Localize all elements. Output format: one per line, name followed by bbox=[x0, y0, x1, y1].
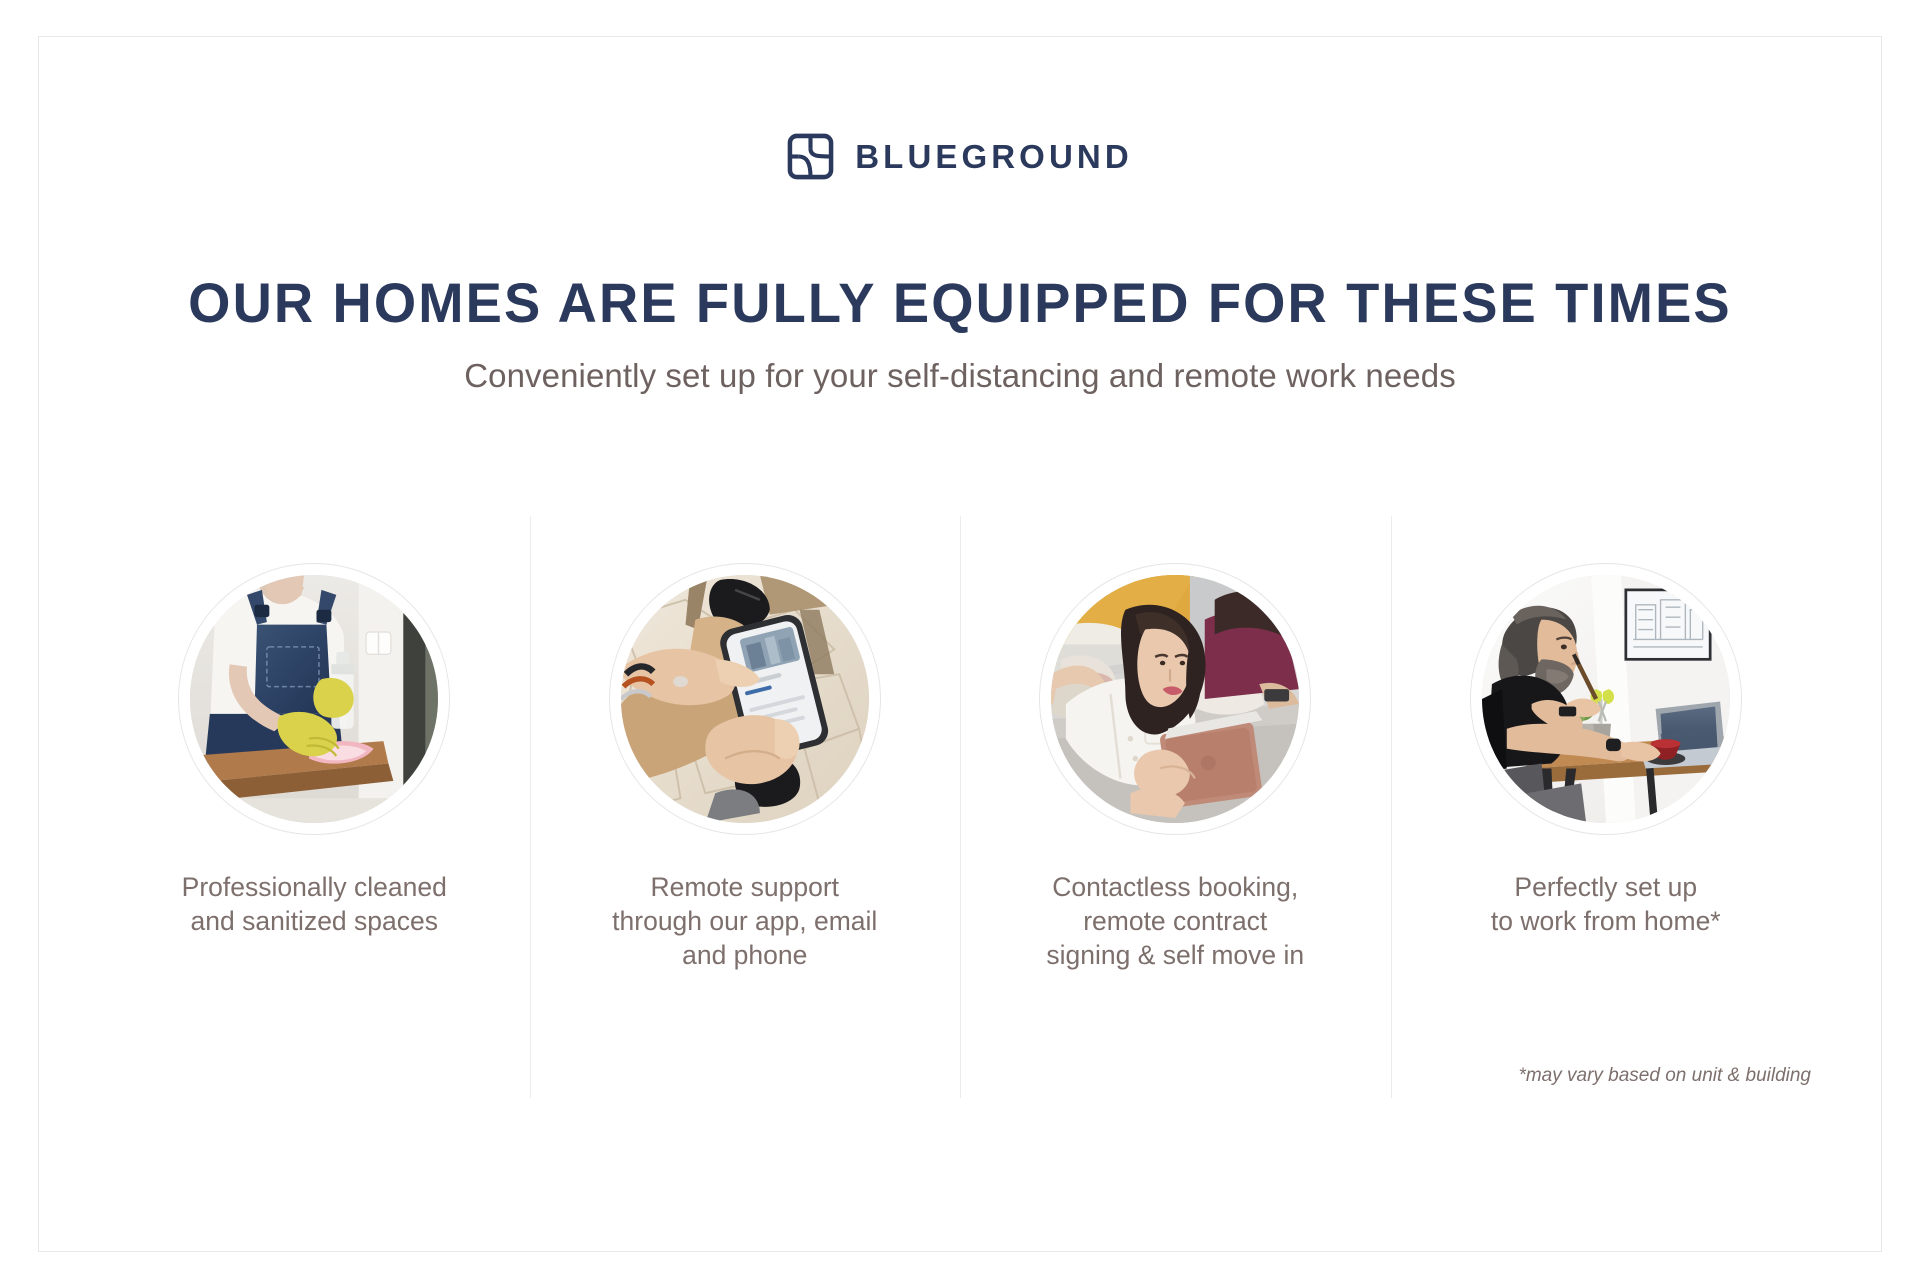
brand-wordmark: BLUEGROUND bbox=[855, 138, 1133, 176]
page-subtitle: Conveniently set up for your self-distan… bbox=[39, 357, 1881, 395]
footnote-disclaimer: *may vary based on unit & building bbox=[1518, 1065, 1811, 1087]
photo-phone-support bbox=[621, 575, 869, 823]
photo-cleaning bbox=[190, 575, 438, 823]
feature-caption: Perfectly set up to work from home* bbox=[1456, 871, 1756, 939]
feature-card-work-from-home: Perfectly set up to work from home* bbox=[1391, 516, 1822, 1098]
photo-tablet-booking bbox=[1051, 575, 1299, 823]
photo-work-from-home bbox=[1482, 575, 1730, 823]
feature-card-contactless-booking: Contactless booking, remote contract sig… bbox=[960, 516, 1391, 1098]
page-title: OUR HOMES ARE FULLY EQUIPPED FOR THESE T… bbox=[67, 274, 1854, 333]
brand-lockup: BLUEGROUND bbox=[39, 133, 1881, 180]
feature-caption: Contactless booking, remote contract sig… bbox=[1025, 871, 1325, 973]
feature-caption: Professionally cleaned and sanitized spa… bbox=[164, 871, 464, 939]
feature-card-remote-support: Remote support through our app, email an… bbox=[530, 516, 961, 1098]
feature-caption: Remote support through our app, email an… bbox=[595, 871, 895, 973]
feature-card-row: Professionally cleaned and sanitized spa… bbox=[99, 516, 1821, 1098]
feature-card-cleaning: Professionally cleaned and sanitized spa… bbox=[99, 516, 530, 1098]
poster-frame: BLUEGROUND OUR HOMES ARE FULLY EQUIPPED … bbox=[38, 36, 1882, 1252]
photo-ring bbox=[1039, 563, 1311, 835]
photo-ring bbox=[609, 563, 881, 835]
photo-ring bbox=[178, 563, 450, 835]
photo-ring bbox=[1470, 563, 1742, 835]
blueground-square-logo-icon bbox=[787, 133, 834, 180]
